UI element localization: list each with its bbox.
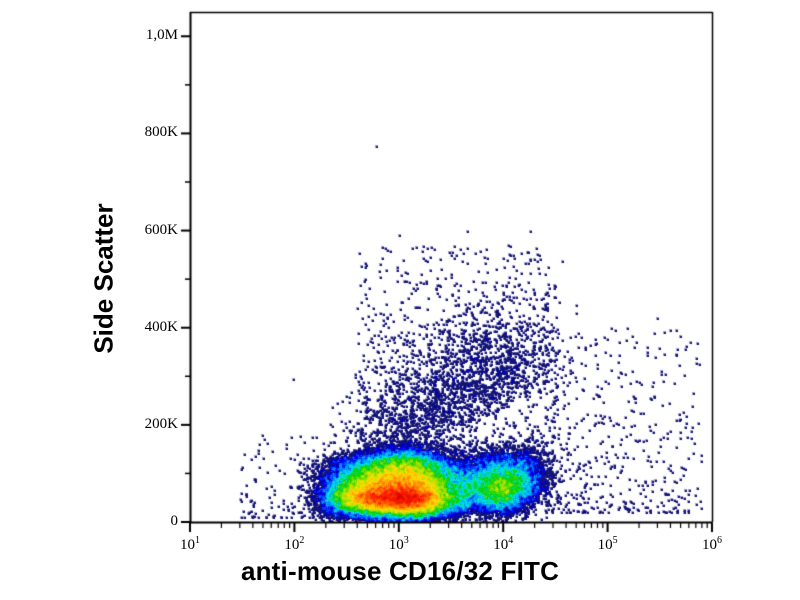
y-tick-label: 400K [114, 319, 178, 336]
x-axis-title: anti-mouse CD16/32 FITC [0, 556, 800, 587]
x-tick-label: 105 [578, 535, 638, 554]
flow-cytometry-plot: anti-mouse CD16/32 FITC Side Scatter 020… [0, 0, 800, 600]
y-tick-label: 600K [114, 222, 178, 239]
x-tick-label: 103 [369, 535, 429, 554]
x-tick-base: 10 [389, 537, 404, 553]
x-tick-exponent: 5 [613, 535, 618, 546]
x-tick-base: 10 [284, 537, 299, 553]
x-tick-exponent: 1 [195, 535, 200, 546]
x-tick-base: 10 [702, 537, 717, 553]
y-tick-label: 1,0M [114, 27, 178, 44]
x-tick-exponent: 2 [299, 535, 304, 546]
x-tick-label: 101 [160, 535, 220, 554]
y-tick-label: 0 [114, 513, 178, 530]
x-tick-label: 106 [682, 535, 742, 554]
y-tick-label: 200K [114, 416, 178, 433]
x-tick-base: 10 [598, 537, 613, 553]
x-tick-base: 10 [180, 537, 195, 553]
scatter-plot-canvas [0, 0, 800, 600]
x-tick-exponent: 3 [404, 535, 409, 546]
y-tick-label: 800K [114, 124, 178, 141]
x-tick-base: 10 [493, 537, 508, 553]
y-axis-title: Side Scatter [89, 29, 120, 529]
x-tick-exponent: 6 [717, 535, 722, 546]
x-tick-label: 102 [264, 535, 324, 554]
x-tick-label: 104 [473, 535, 533, 554]
x-tick-exponent: 4 [508, 535, 513, 546]
